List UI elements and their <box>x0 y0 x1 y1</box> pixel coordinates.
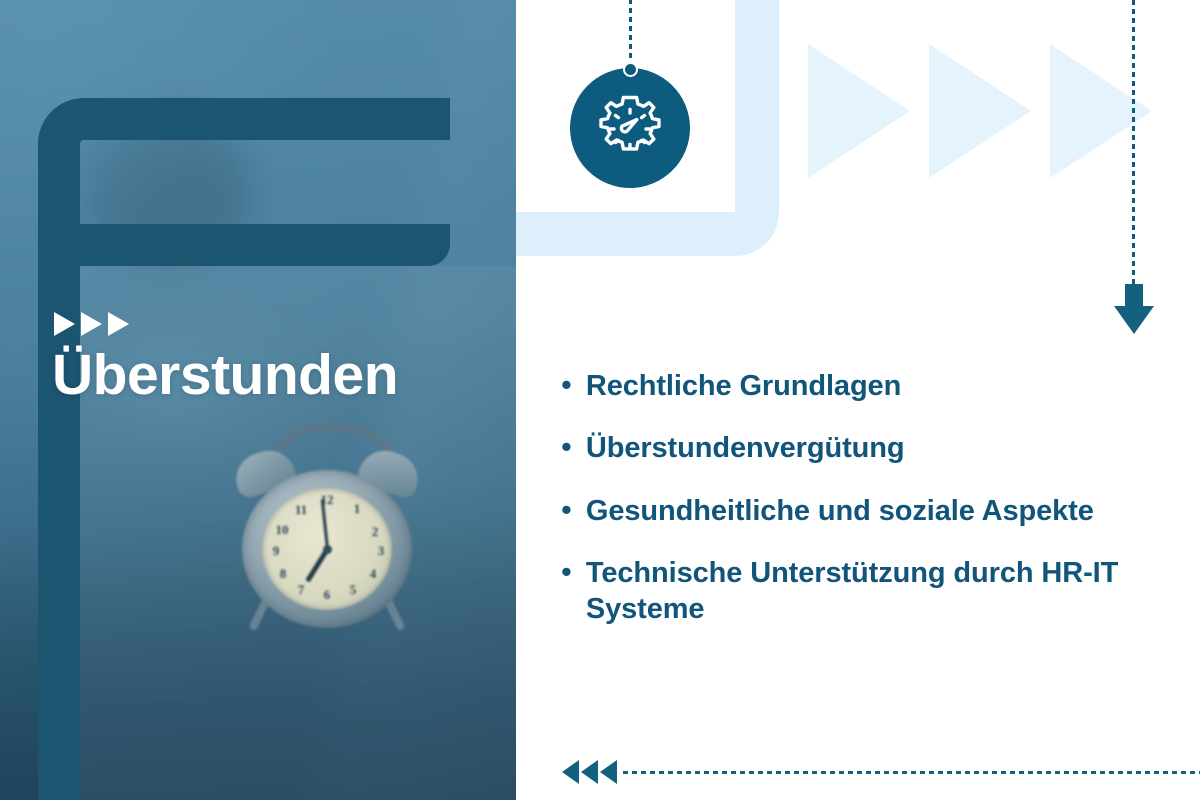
play-arrow-icon <box>81 312 102 336</box>
bullet-text: Rechtliche Grundlagen <box>586 368 901 404</box>
page-title: Überstunden <box>52 346 472 404</box>
chevron-triangle-icon <box>808 44 910 178</box>
bullet-text: Überstundenvergütung <box>586 430 905 466</box>
down-arrow-icon <box>1114 284 1154 334</box>
play-arrow-icon <box>108 312 129 336</box>
list-item: • Gesundheitliche und soziale Aspekte <box>561 493 1171 529</box>
bullet-marker: • <box>561 430 572 464</box>
rewind-arrow-icon <box>562 760 579 784</box>
triple-play-arrow-icon <box>54 312 472 336</box>
light-frame-horizontal-bar <box>516 212 735 256</box>
chevron-triangle-icon <box>1050 44 1152 178</box>
rewind-arrow-icon <box>581 760 598 784</box>
play-arrow-icon <box>54 312 75 336</box>
bullet-list: • Rechtliche Grundlagen • Überstundenver… <box>561 368 1171 653</box>
content-panel: • Rechtliche Grundlagen • Überstundenver… <box>516 0 1200 800</box>
dotted-vertical-line <box>1132 0 1135 288</box>
rewind-arrow-icon <box>600 760 617 784</box>
gear-badge[interactable] <box>570 68 690 188</box>
hanger-dot-icon <box>623 62 638 77</box>
light-frame-vertical-bar <box>735 0 779 212</box>
light-frame-corner <box>735 212 779 256</box>
gear-speedometer-icon <box>570 68 690 188</box>
dark-frame-vertical-bar <box>38 140 80 800</box>
dotted-horizontal-line <box>623 771 1200 774</box>
title-block: Überstunden <box>52 312 472 404</box>
arrow-head <box>1114 306 1154 334</box>
slide-canvas: 12 1 2 3 4 5 6 7 8 9 10 11 <box>0 0 1200 800</box>
dotted-hanger-line <box>629 0 632 66</box>
dark-frame-horizontal-bar <box>80 224 450 266</box>
list-item: • Überstundenvergütung <box>561 430 1171 466</box>
list-item: • Technische Unterstützung durch HR-IT S… <box>561 555 1171 628</box>
bullet-marker: • <box>561 555 572 589</box>
list-item: • Rechtliche Grundlagen <box>561 368 1171 404</box>
bullet-text: Gesundheitliche und soziale Aspekte <box>586 493 1094 529</box>
bullet-text: Technische Unterstützung durch HR-IT Sys… <box>586 555 1166 628</box>
bottom-decoration <box>562 758 1200 786</box>
photo-panel: 12 1 2 3 4 5 6 7 8 9 10 11 <box>0 0 516 800</box>
chevron-triangle-icon <box>929 44 1031 178</box>
bullet-marker: • <box>561 368 572 402</box>
bullet-marker: • <box>561 493 572 527</box>
